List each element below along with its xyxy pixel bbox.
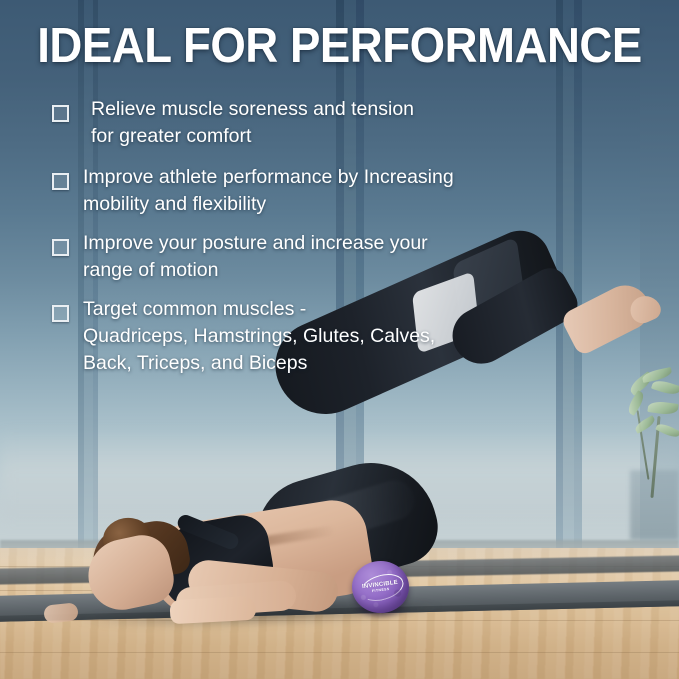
list-item-label: Improve your posture and increase your r… [83,230,428,284]
list-item: Improve your posture and increase your r… [52,230,612,284]
list-item-label: Relieve muscle soreness and tension for … [91,96,414,150]
hand-right [169,596,256,624]
list-item: Improve athlete performance by Increasin… [52,164,612,218]
page-title: IDEAL FOR PERFORMANCE [24,22,655,71]
checkbox-outline-icon [52,239,69,256]
brand-logo: INVINCIBLE FITNESS [359,574,403,600]
list-item: Relieve muscle soreness and tension for … [52,96,612,150]
list-item-label: Target common muscles - Quadriceps, Hams… [83,296,435,377]
checkbox-outline-icon [52,173,69,190]
checkbox-outline-icon [52,105,69,122]
benefits-list: Relieve muscle soreness and tension for … [52,96,612,391]
product-lifestyle-image: INVINCIBLE FITNESS IDEAL FOR PERFORMANCE… [0,0,679,679]
massage-ball: INVINCIBLE FITNESS [352,561,409,613]
list-item: Target common muscles - Quadriceps, Hams… [52,296,612,377]
checkbox-outline-icon [52,305,69,322]
list-item-label: Improve athlete performance by Increasin… [83,164,454,218]
